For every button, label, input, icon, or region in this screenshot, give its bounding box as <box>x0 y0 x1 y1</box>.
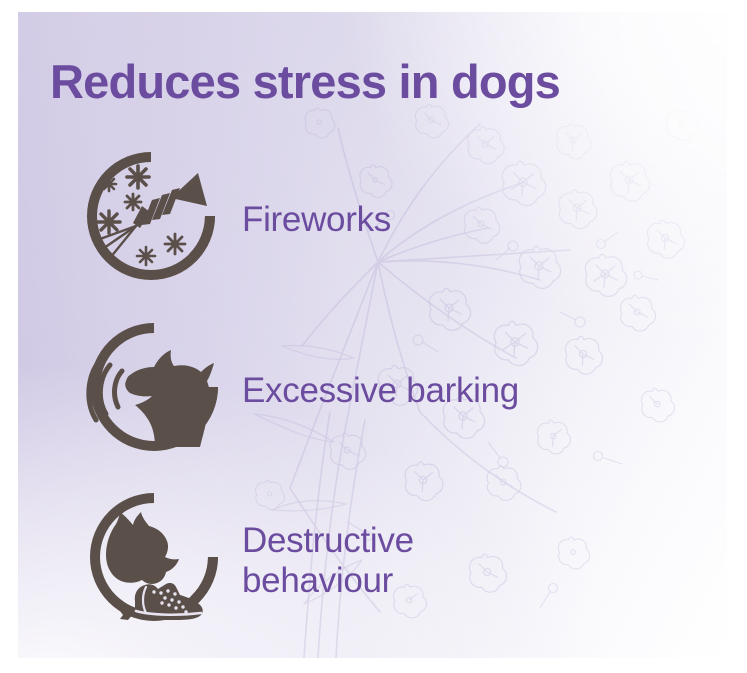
feature-row-barking: Excessive barking <box>18 315 727 467</box>
feature-row-destructive: Destructive behaviour <box>18 485 727 637</box>
barking-dog-icon <box>76 315 226 467</box>
feature-row-fireworks: Fireworks <box>18 144 727 296</box>
page-title: Reduces stress in dogs <box>50 58 710 105</box>
feature-label-destructive: Destructive behaviour <box>242 521 414 601</box>
promo-card: Reduces stress in dogs <box>0 0 747 673</box>
card-panel: Reduces stress in dogs <box>18 12 727 658</box>
dog-chewing-shoe-icon <box>76 485 226 637</box>
feature-label-fireworks: Fireworks <box>242 200 391 239</box>
fireworks-rocket-icon <box>76 144 226 296</box>
feature-label-barking: Excessive barking <box>242 371 519 410</box>
